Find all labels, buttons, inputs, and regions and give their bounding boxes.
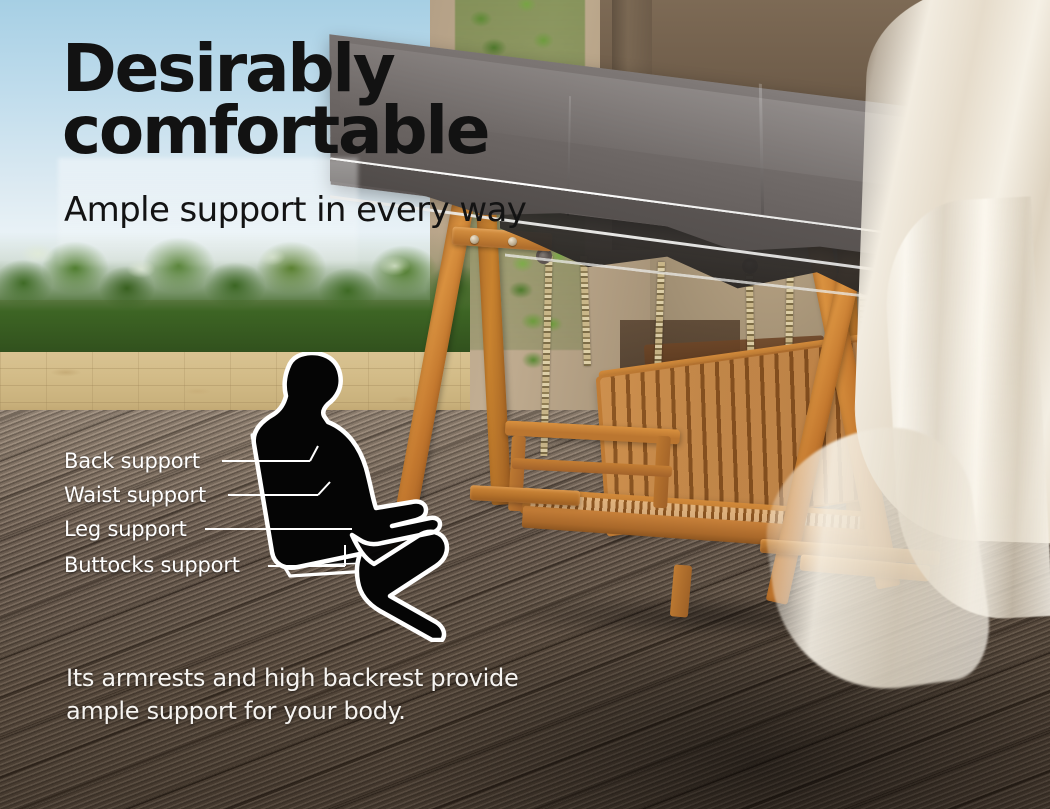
product-marketing-image: Desirably comfortable Ample support in e…: [0, 0, 1050, 809]
bottom-caption: Its armrests and high backrest provide a…: [66, 662, 518, 727]
page-headline: Desirably comfortable: [62, 38, 488, 162]
callout-label-leg-support: Leg support: [64, 517, 187, 541]
callout-label-buttocks-support: Buttocks support: [64, 553, 240, 577]
bolt: [470, 235, 479, 244]
callout-label-back-support: Back support: [64, 449, 200, 473]
seated-person-silhouette: [240, 352, 510, 642]
bolt: [508, 237, 517, 246]
callout-label-waist-support: Waist support: [64, 483, 206, 507]
page-subheadline: Ample support in every way: [64, 190, 526, 230]
